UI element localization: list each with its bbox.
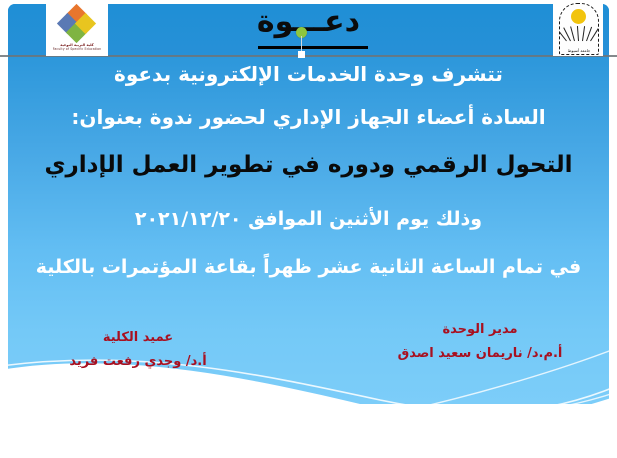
university-logo-card: جامعة أسيوط xyxy=(553,1,603,56)
faculty-logo-caption: كلية التربية النوعية Faculty of Specific… xyxy=(53,43,102,51)
invitation-slide: دعـــوة كلية التربية النوعية Faculty of … xyxy=(0,0,617,458)
assiut-university-emblem-icon: جامعة أسيوط xyxy=(559,3,599,55)
faculty-logo-card: كلية التربية النوعية Faculty of Specific… xyxy=(46,2,108,56)
seminar-title: التحول الرقمي ودوره في تطوير العمل الإدا… xyxy=(0,152,617,178)
faculty-logo-caption-en: Faculty of Specific Education xyxy=(53,47,102,51)
faculty-diamond-logo-icon xyxy=(60,7,94,41)
dean-name: أ.د/ وجدي رفعت فريد xyxy=(18,354,258,369)
title-underline xyxy=(258,46,368,49)
signature-dean: عميد الكلية أ.د/ وجدي رفعت فريد xyxy=(18,330,258,369)
time-place-line: في تمام الساعة الثانية عشر ظهراً بقاعة ا… xyxy=(0,256,617,278)
footer-white-area xyxy=(0,404,617,458)
pin-foot-icon xyxy=(298,51,305,58)
university-logo-caption: جامعة أسيوط xyxy=(560,49,598,53)
sun-icon xyxy=(571,9,586,24)
intro-line-1: تتشرف وحدة الخدمات الإلكترونية بدعوة xyxy=(0,62,617,86)
intro-line-2: السادة أعضاء الجهاز الإداري لحضور ندوة ب… xyxy=(0,105,617,129)
dean-role: عميد الكلية xyxy=(18,330,258,345)
unit-manager-role: مدير الوحدة xyxy=(360,322,600,337)
signature-unit-manager: مدير الوحدة أ.م.د/ ناريمان سعيد اصدق xyxy=(360,322,600,361)
rays-icon xyxy=(564,23,594,41)
date-line: وذلك يوم الأثنين الموافق ٢٠٢١/١٢/٢٠ xyxy=(0,208,617,230)
unit-manager-name: أ.م.د/ ناريمان سعيد اصدق xyxy=(360,346,600,361)
pin-stem-icon xyxy=(301,36,302,52)
